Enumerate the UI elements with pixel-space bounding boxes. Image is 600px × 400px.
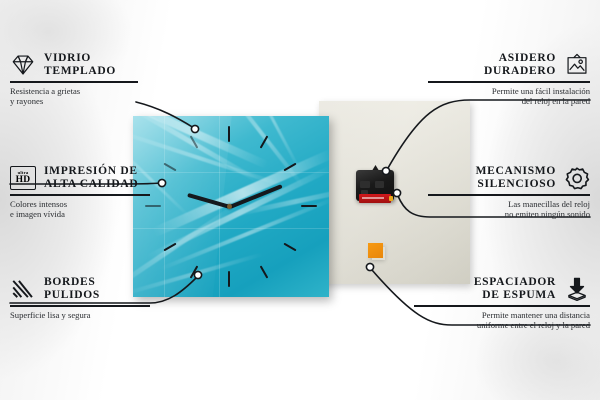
feature-title-line2: PULIDOS [44, 289, 100, 302]
mechanism-detail [360, 181, 370, 188]
wall-hanger-frame-icon [564, 52, 590, 78]
foam-spacer-arrow-icon [564, 276, 590, 302]
clock-mechanism [356, 165, 394, 201]
clock-face [133, 116, 329, 297]
feature-subtitle-line2: no emiten ningún sonido [428, 209, 590, 220]
feature-mecanismo-silencioso: MECANISMO SILENCIOSO Las manecillas del … [428, 165, 590, 220]
product-photo [133, 103, 470, 297]
gear-icon [564, 165, 590, 191]
diamond-icon [10, 52, 36, 78]
feature-asidero-duradero: ASIDERO DURADERO Permite una fácil insta… [428, 52, 590, 107]
feature-divider [414, 305, 590, 307]
feature-impresion-alta-calidad: ultra HD IMPRESIÓN DE ALTA CALIDAD Color… [10, 165, 150, 220]
feature-title-line2: SILENCIOSO [476, 178, 556, 191]
feature-title-line1: MECANISMO [476, 165, 556, 178]
hour-marker [228, 271, 230, 287]
feature-title-line1: VIDRIO [44, 52, 116, 65]
feature-title-line1: ASIDERO [484, 52, 556, 65]
mechanism-detail [375, 181, 384, 188]
clock-hub [227, 204, 232, 209]
foam-spacer [368, 243, 383, 258]
feature-subtitle-line1: Superficie lisa y segura [10, 310, 150, 321]
feature-subtitle-line1: Las manecillas del reloj [428, 199, 590, 210]
mechanism-body [356, 170, 394, 201]
battery-label [362, 197, 384, 199]
feature-subtitle-line1: Colores intensos [10, 199, 150, 210]
feature-divider [10, 81, 138, 83]
feature-subtitle-line1: Permite una fácil instalación [428, 86, 590, 97]
feature-title-line2: DE ESPUMA [474, 289, 556, 302]
feature-divider [428, 194, 590, 196]
battery [359, 194, 391, 203]
polished-edges-icon [10, 276, 36, 302]
feature-divider [10, 194, 150, 196]
feature-title-line1: IMPRESIÓN DE [44, 165, 138, 178]
feature-subtitle-line2: e imagen vívida [10, 209, 150, 220]
feature-subtitle-line2: del reloj en la pared [428, 96, 590, 107]
feature-vidrio-templado: VIDRIO TEMPLADO Resistencia a grietas y … [10, 52, 138, 107]
feature-subtitle-line2: uniforme entre el reloj y la pared [414, 320, 590, 331]
feature-title-line2: ALTA CALIDAD [44, 178, 138, 191]
ultra-hd-icon: ultra HD [10, 166, 36, 190]
feature-subtitle-line2: y rayones [10, 96, 138, 107]
feature-subtitle-line1: Permite mantener una distancia [414, 310, 590, 321]
feature-title-line1: BORDES [44, 276, 100, 289]
feature-bordes-pulidos: BORDES PULIDOS Superficie lisa y segura [10, 276, 150, 320]
feature-divider [10, 305, 150, 307]
hour-marker [301, 205, 317, 207]
feature-divider [428, 81, 590, 83]
hour-marker [228, 126, 230, 142]
ultra-hd-icon-main: HD [16, 176, 31, 186]
feature-title-line2: DURADERO [484, 65, 556, 78]
feature-subtitle-line1: Resistencia a grietas [10, 86, 138, 97]
feature-espaciador-de-espuma: ESPACIADOR DE ESPUMA Permite mantener un… [414, 276, 590, 331]
infographic-canvas: VIDRIO TEMPLADO Resistencia a grietas y … [0, 0, 600, 400]
feature-title-line1: ESPACIADOR [474, 276, 556, 289]
feature-title-line2: TEMPLADO [44, 65, 116, 78]
